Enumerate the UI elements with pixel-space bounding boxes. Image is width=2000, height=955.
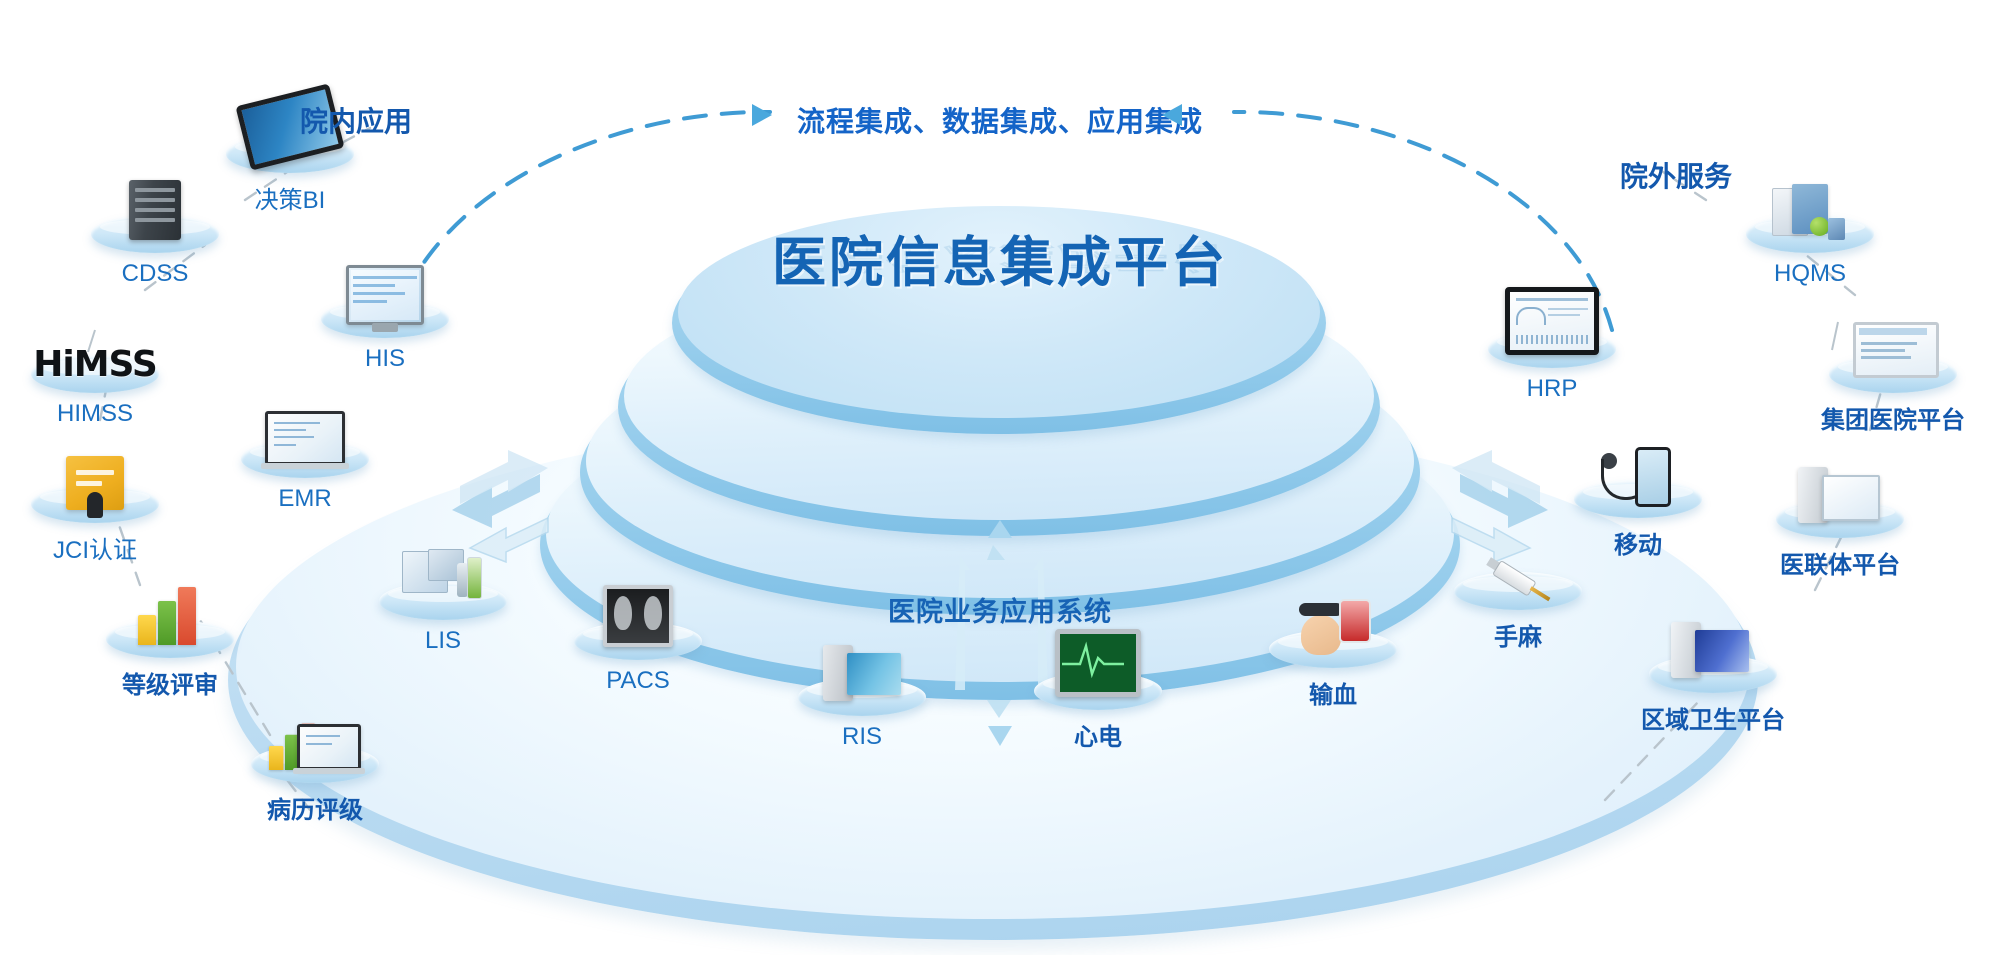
himss-wordmark: HiMSS <box>33 347 157 383</box>
group-label-external: 院外服务 <box>1620 155 1732 195</box>
laptop-icon <box>265 411 345 465</box>
node-label: LIS <box>348 627 538 655</box>
blood-transfusion-icon <box>1295 597 1371 655</box>
node-anesthesia[interactable]: 手麻 <box>1423 572 1613 652</box>
node-label: 心电 <box>1003 717 1193 752</box>
pedestal <box>321 300 449 338</box>
server-rack-icon <box>129 180 181 240</box>
node-lis[interactable]: LIS <box>348 582 538 655</box>
node-cdss[interactable]: CDSS <box>60 215 250 288</box>
node-label: 病历评级 <box>220 790 410 825</box>
stem-hqms <box>1832 322 1838 350</box>
ecg-monitor-icon <box>1055 629 1141 697</box>
pedestal <box>1454 572 1582 610</box>
node-label: JCI认证 <box>0 530 190 565</box>
pedestal <box>1776 500 1904 538</box>
node-blood[interactable]: 输血 <box>1238 630 1428 710</box>
node-label: HQMS <box>1715 260 1905 288</box>
node-label: 决策BI <box>195 180 385 215</box>
node-alliance[interactable]: 医联体平台 <box>1745 500 1935 580</box>
pedestal: HiMSS <box>31 355 159 393</box>
lab-analyzer-icon <box>402 549 484 607</box>
pedestal <box>798 678 926 716</box>
page-title: 医院信息集成平台 <box>0 218 2000 297</box>
node-label: PACS <box>543 667 733 695</box>
diagram-canvas: 基础数据中心 临床数据中心 运营数据中心 医院信息集成平台 医院信息集成平台 流… <box>0 0 2000 955</box>
pedestal <box>1829 355 1957 393</box>
node-hrp[interactable]: HRP <box>1457 330 1647 403</box>
pedestal <box>241 440 369 478</box>
mobile-stethoscope-icon <box>1601 447 1675 505</box>
node-emr-rating[interactable]: 病历评级 <box>220 745 410 825</box>
node-label: 医联体平台 <box>1745 545 1935 580</box>
node-pacs[interactable]: PACS <box>543 622 733 695</box>
node-label: HIS <box>290 345 480 373</box>
node-group-hospital[interactable]: 集团医院平台 <box>1798 355 1988 435</box>
node-himss[interactable]: HiMSS HIMSS <box>0 355 190 428</box>
node-label: CDSS <box>60 260 250 288</box>
pedestal <box>379 582 507 620</box>
documents-icon <box>1770 184 1850 240</box>
node-label: EMR <box>210 485 400 513</box>
node-hqms[interactable]: HQMS <box>1715 215 1905 288</box>
desktop-monitor-icon <box>346 265 424 325</box>
syringe-icon <box>1483 566 1553 594</box>
node-his[interactable]: HIS <box>290 300 480 373</box>
tablet-report-icon <box>1505 287 1599 355</box>
pedestal <box>251 745 379 783</box>
node-label: 等级评审 <box>75 665 265 700</box>
xray-monitor-icon <box>603 585 673 647</box>
node-label: 区域卫生平台 <box>1618 700 1808 735</box>
node-bi[interactable]: 决策BI <box>195 135 385 215</box>
pedestal <box>91 215 219 253</box>
pedestal <box>106 620 234 658</box>
bar-chart-icon <box>138 587 202 645</box>
arrow-left-icon <box>1162 104 1182 126</box>
node-label: 手麻 <box>1423 617 1613 652</box>
node-label: HRP <box>1457 375 1647 403</box>
node-label: HIMSS <box>0 400 190 428</box>
alliance-desktop-icon <box>1798 467 1882 525</box>
himss-logo-icon: HiMSS <box>33 347 157 383</box>
pedestal <box>1574 480 1702 518</box>
node-label: 输血 <box>1238 675 1428 710</box>
certificate-icon <box>66 456 124 510</box>
node-label: 移动 <box>1543 525 1733 560</box>
node-grading[interactable]: 等级评审 <box>75 620 265 700</box>
node-ris[interactable]: RIS <box>767 678 957 751</box>
group-portal-icon <box>1849 322 1937 380</box>
pedestal <box>226 135 354 173</box>
group-label-internal: 院内应用 <box>300 100 412 140</box>
regional-desktop-icon <box>1671 622 1755 680</box>
node-mobile[interactable]: 移动 <box>1543 480 1733 560</box>
pedestal <box>31 485 159 523</box>
pedestal <box>1649 655 1777 693</box>
node-label: RIS <box>767 723 957 751</box>
workstation-icon <box>823 645 901 703</box>
pedestal <box>1034 672 1162 710</box>
chart-laptop-icon <box>269 714 361 770</box>
pedestal <box>1269 630 1397 668</box>
node-emr[interactable]: EMR <box>210 440 400 513</box>
node-regional[interactable]: 区域卫生平台 <box>1618 655 1808 735</box>
pedestal <box>574 622 702 660</box>
node-jci[interactable]: JCI认证 <box>0 485 190 565</box>
node-label: 集团医院平台 <box>1798 400 1988 435</box>
pedestal <box>1488 330 1616 368</box>
node-ecg[interactable]: 心电 <box>1003 672 1193 752</box>
pedestal <box>1746 215 1874 253</box>
